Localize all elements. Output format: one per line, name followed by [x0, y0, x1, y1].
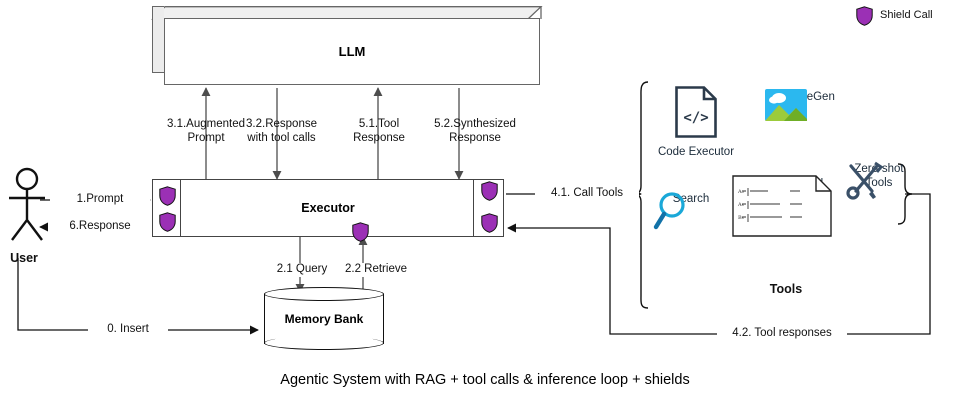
- memory-bank-node: Memory Bank: [264, 288, 384, 350]
- edge-label-prompt: 1.Prompt: [50, 193, 150, 207]
- diagram-caption: Agentic System with RAG + tool calls & i…: [0, 372, 970, 388]
- tool-zero-shot[interactable]: Zero-shot Tools: [842, 160, 916, 190]
- edge-label-tool-responses: 4.2. Tool responses: [717, 327, 847, 341]
- edge-label-query: 2.1 Query: [262, 263, 342, 277]
- formula-document-icon: A₀AₙBₙ: [732, 175, 832, 237]
- executor-node: Executor: [152, 179, 504, 237]
- magnifier-icon: [653, 190, 689, 230]
- code-document-icon: </>: [675, 86, 717, 138]
- shield-icon-input-bottom: [159, 212, 176, 232]
- tool-math-reasoning[interactable]: A₀AₙBₙ Mathematical Reasoning: [732, 175, 846, 205]
- wrench-screwdriver-icon: [842, 160, 886, 204]
- shield-icon-output-bottom: [481, 213, 498, 233]
- memory-bank-top-cap: [264, 287, 384, 301]
- tool-search[interactable]: Search: [653, 190, 729, 207]
- tools-group-label: Tools: [726, 283, 846, 297]
- svg-text:Aₙ: Aₙ: [737, 202, 744, 208]
- svg-text:</>: </>: [683, 110, 708, 126]
- edge-label-insert: 0. Insert: [88, 323, 168, 337]
- edge-label-synthesized-response: 5.2.Synthesized Response: [420, 118, 530, 145]
- svg-text:Bₙ: Bₙ: [738, 215, 744, 221]
- llm-label: LLM: [164, 18, 540, 85]
- user-label: User: [0, 252, 48, 266]
- svg-text:A₀: A₀: [737, 189, 744, 195]
- tool-code-executor[interactable]: </> Code Executor: [648, 86, 744, 160]
- tool-imagegen[interactable]: ImageGen: [764, 88, 852, 105]
- edge-label-tool-response: 5.1.Tool Response: [339, 118, 419, 145]
- image-icon: [764, 88, 808, 122]
- edge-label-call-tools: 4.1. Call Tools: [535, 187, 639, 201]
- edge-label-response: 6.Response: [48, 220, 152, 234]
- memory-bank-bottom-cap: [264, 336, 384, 350]
- edge-label-response-with-tool-calls: 3.2.Response with tool calls: [229, 118, 334, 145]
- user-stick-figure-icon: [4, 168, 50, 238]
- edge-label-retrieve: 2.2 Retrieve: [333, 263, 419, 277]
- tool-label-code-executor: Code Executor: [648, 146, 744, 160]
- executor-label: Executor: [153, 180, 503, 236]
- shield-icon-input-top: [159, 186, 176, 206]
- shield-icon-output-top: [481, 181, 498, 201]
- memory-bank-label: Memory Bank: [264, 302, 384, 336]
- llm-side-face: [152, 6, 164, 73]
- llm-node: LLM: [152, 6, 542, 86]
- legend-label: Shield Call: [880, 9, 933, 21]
- shield-icon-legend: [856, 6, 873, 26]
- shield-icon-memory: [352, 222, 369, 242]
